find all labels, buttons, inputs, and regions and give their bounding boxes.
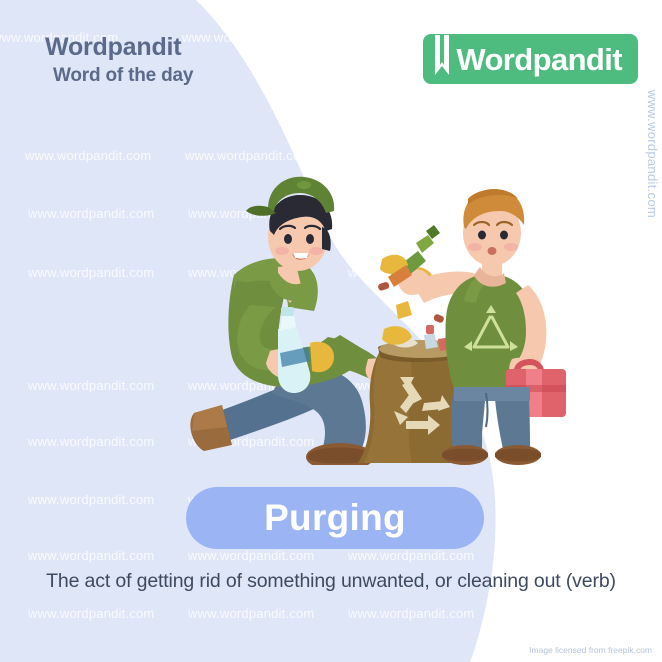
page-subtitle: Word of the day <box>53 65 193 87</box>
word-of-the-day-card: www.wordpandit.com www.wordpandit.com ww… <box>0 0 662 662</box>
header: Wordpandit Word of the day <box>45 34 193 87</box>
image-attribution: Image licensed from freepik.com <box>529 645 652 655</box>
definition-text: The act of getting rid of something unwa… <box>0 570 662 593</box>
logo-text: Wordpandit <box>456 44 622 75</box>
word-of-the-day: Purging <box>264 497 406 539</box>
page-title: Wordpandit <box>45 34 193 60</box>
wordpandit-logo[interactable]: Wordpandit <box>423 34 638 84</box>
left-man <box>190 177 394 465</box>
illustration-two-men-sorting-trash <box>82 155 582 465</box>
word-pill: Purging <box>186 487 484 549</box>
